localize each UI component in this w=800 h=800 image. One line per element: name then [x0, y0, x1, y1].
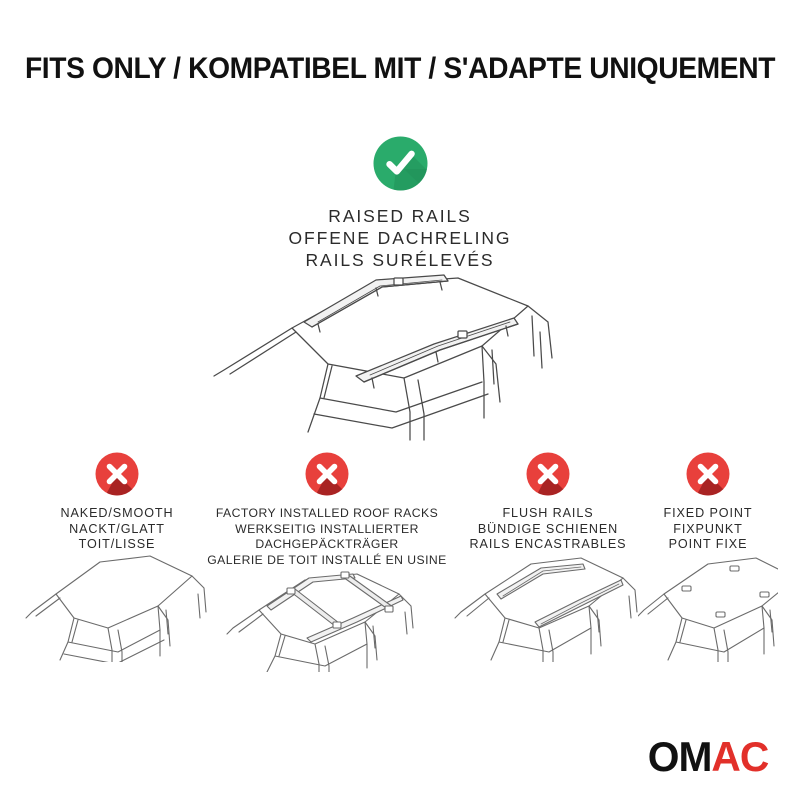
x-circle-icon	[305, 452, 349, 496]
incompatible-labels: FLUSH RAILS BÜNDIGE SCHIENEN RAILS ENCAS…	[449, 506, 647, 553]
incompatible-labels: NAKED/SMOOTH NACKT/GLATT TOIT/LISSE	[22, 506, 212, 553]
car-roof-naked-illustration	[22, 550, 212, 662]
logo-text-dark: OM	[647, 733, 711, 780]
incompatible-section: NAKED/SMOOTH NACKT/GLATT TOIT/LISSE	[0, 452, 800, 712]
incompatible-item-factory-racks: FACTORY INSTALLED ROOF RACKS WERKSEITIG …	[207, 452, 447, 568]
car-roof-flush-rails-illustration	[449, 550, 647, 662]
label-line-2: BÜNDIGE SCHIENEN	[449, 522, 647, 538]
check-circle-icon	[373, 136, 428, 191]
x-circle-icon	[95, 452, 139, 496]
compatible-label-fr: RAILS SURÉLEVÉS	[0, 249, 800, 271]
label-line-1: FLUSH RAILS	[449, 506, 647, 522]
label-line-1: NAKED/SMOOTH	[22, 506, 212, 522]
car-roof-raised-rails-illustration	[196, 272, 616, 444]
omac-logo: OMAC	[647, 736, 768, 778]
label-line-2: WERKSEITIG INSTALLIERTER	[207, 522, 447, 538]
compatible-section: RAISED RAILS OFFENE DACHRELING RAILS SUR…	[0, 136, 800, 271]
label-line-2: NACKT/GLATT	[22, 522, 212, 538]
compatibility-infographic: FITS ONLY / KOMPATIBEL MIT / S'ADAPTE UN…	[0, 0, 800, 800]
compatible-label-en: RAISED RAILS	[0, 205, 800, 227]
label-line-3: DACHGEPÄCKTRÄGER	[207, 537, 447, 553]
incompatible-item-naked-smooth: NAKED/SMOOTH NACKT/GLATT TOIT/LISSE	[22, 452, 212, 553]
label-line-1: FACTORY INSTALLED ROOF RACKS	[207, 506, 447, 522]
incompatible-item-flush-rails: FLUSH RAILS BÜNDIGE SCHIENEN RAILS ENCAS…	[449, 452, 647, 553]
label-line-2: FIXPUNKT	[638, 522, 778, 538]
logo-text-red: AC	[711, 733, 768, 780]
label-line-1: FIXED POINT	[638, 506, 778, 522]
incompatible-labels: FIXED POINT FIXPUNKT POINT FIXE	[638, 506, 778, 553]
x-circle-icon	[686, 452, 730, 496]
car-roof-fixed-point-illustration	[638, 550, 778, 662]
compatible-label-de: OFFENE DACHRELING	[0, 227, 800, 249]
compatible-labels: RAISED RAILS OFFENE DACHRELING RAILS SUR…	[0, 205, 800, 271]
incompatible-item-fixed-point: FIXED POINT FIXPUNKT POINT FIXE	[638, 452, 778, 553]
page-title: FITS ONLY / KOMPATIBEL MIT / S'ADAPTE UN…	[24, 52, 776, 86]
car-roof-factory-racks-illustration	[207, 560, 447, 672]
x-circle-icon	[526, 452, 570, 496]
incompatible-labels: FACTORY INSTALLED ROOF RACKS WERKSEITIG …	[207, 506, 447, 568]
